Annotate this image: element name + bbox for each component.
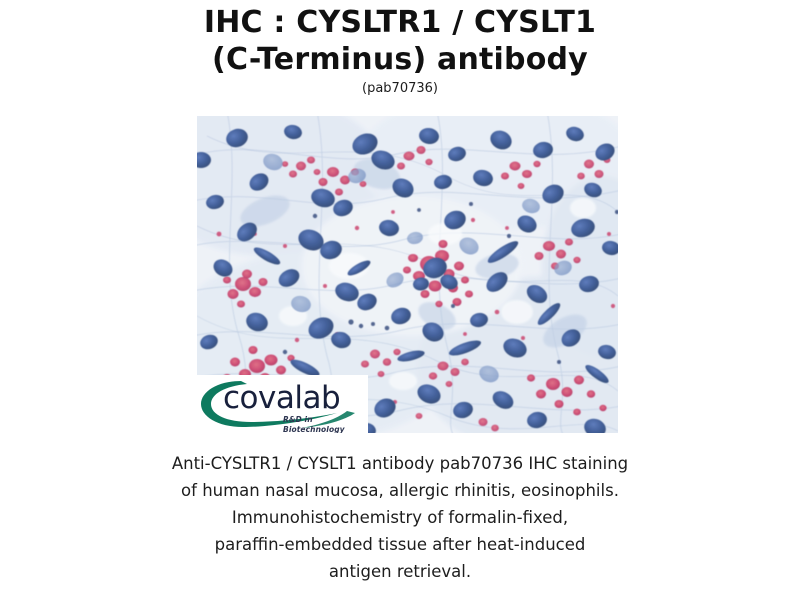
figure-page: IHC : CYSLTR1 / CYSLT1 (C-Terminus) anti… bbox=[0, 0, 800, 600]
page-title-line-1: IHC : CYSLTR1 / CYSLT1 bbox=[0, 4, 800, 41]
caption-line-3: Immunohistochemistry of formalin-fixed, bbox=[60, 504, 740, 531]
covalab-tagline: R&D in Biotechnology bbox=[283, 415, 368, 433]
caption-line-5: antigen retrieval. bbox=[60, 558, 740, 585]
figure-caption: Anti-CYSLTR1 / CYSLT1 antibody pab70736 … bbox=[60, 450, 740, 585]
caption-line-1: Anti-CYSLTR1 / CYSLT1 antibody pab70736 … bbox=[60, 450, 740, 477]
covalab-wordmark: covalab bbox=[223, 380, 340, 416]
caption-line-2: of human nasal mucosa, allergic rhinitis… bbox=[60, 477, 740, 504]
caption-line-4: paraffin-embedded tissue after heat-indu… bbox=[60, 531, 740, 558]
page-title-line-2: (C-Terminus) antibody bbox=[0, 41, 800, 78]
covalab-logo: covalab R&D in Biotechnology bbox=[197, 375, 368, 433]
figure-title-block: IHC : CYSLTR1 / CYSLT1 (C-Terminus) anti… bbox=[0, 4, 800, 97]
catalog-code: (pab70736) bbox=[0, 80, 800, 97]
